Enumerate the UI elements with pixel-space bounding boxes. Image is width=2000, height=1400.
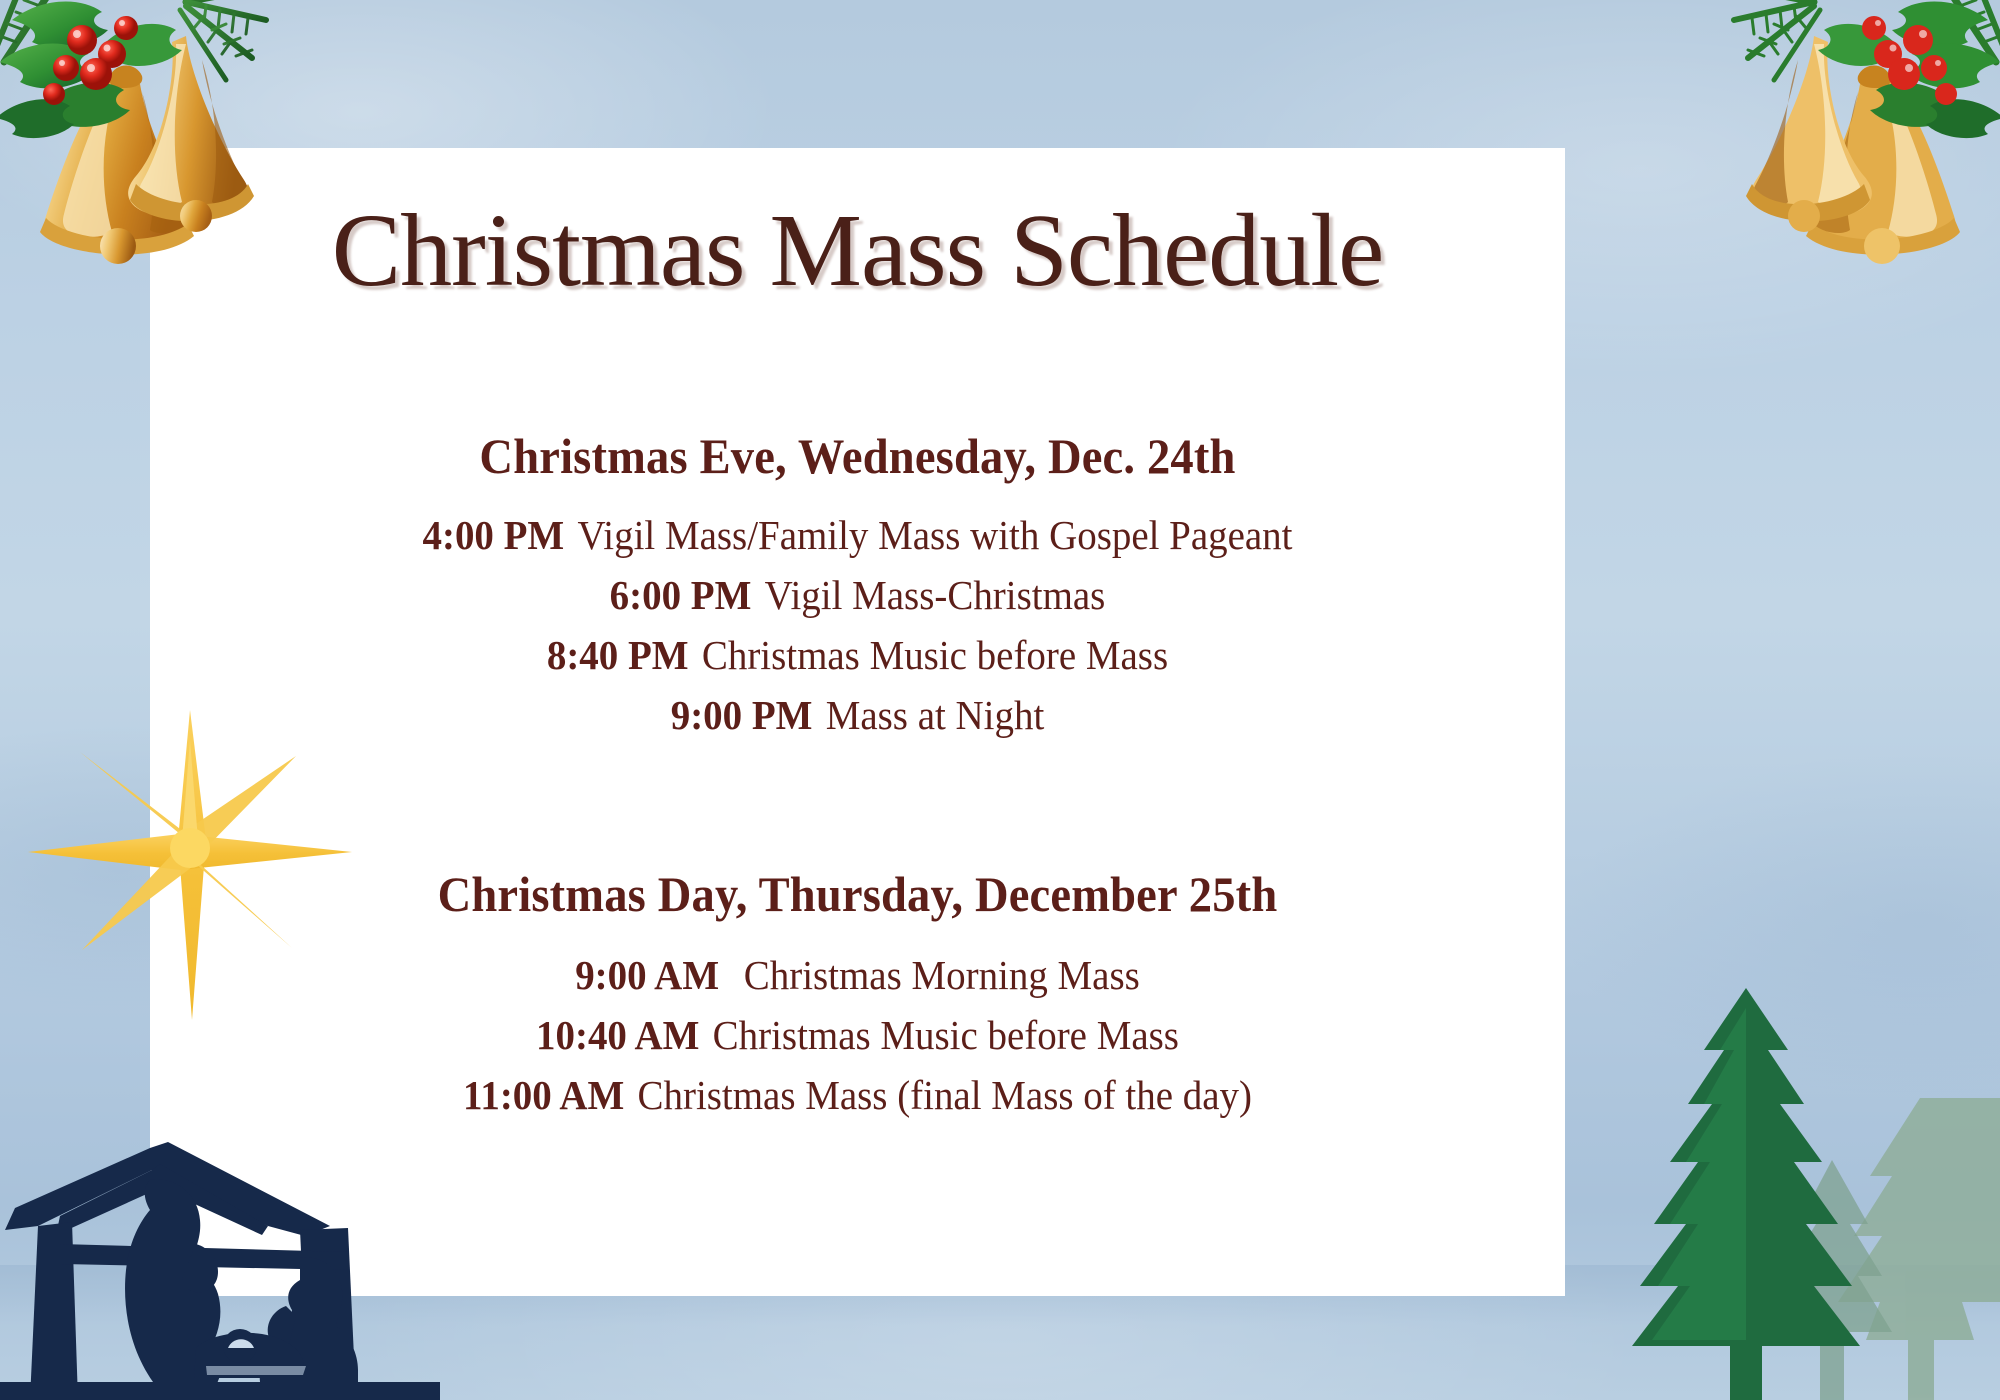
- schedule-row: 9:00 AMChristmas Morning Mass: [185, 945, 1529, 1005]
- mass-time: 9:00 AM: [575, 952, 719, 998]
- pine-trees-icon: [1570, 980, 2000, 1400]
- mass-description: Christmas Music before Mass: [702, 632, 1168, 678]
- mass-description: Vigil Mass-Christmas: [765, 572, 1106, 618]
- mass-description: Christmas Music before Mass: [713, 1012, 1179, 1058]
- section-heading-christmas-eve: Christmas Eve, Wednesday, Dec. 24th: [200, 427, 1516, 485]
- mass-time: 9:00 PM: [671, 692, 813, 738]
- schedule-row: 4:00 PMVigil Mass/Family Mass with Gospe…: [185, 505, 1529, 565]
- mass-description: Christmas Mass (final Mass of the day): [638, 1072, 1252, 1118]
- schedule-row: 6:00 PMVigil Mass-Christmas: [185, 565, 1529, 625]
- mass-time: 10:40 AM: [536, 1012, 699, 1058]
- christmas-bells-holly-icon-right: [1620, 0, 2000, 314]
- page-title: Christmas Mass Schedule: [150, 196, 1565, 305]
- christmas-mass-schedule-poster: Christmas Mass Schedule Christmas Eve, W…: [0, 0, 2000, 1400]
- mass-description: Mass at Night: [826, 692, 1045, 738]
- schedule-list-christmas-eve: 4:00 PMVigil Mass/Family Mass with Gospe…: [150, 505, 1565, 745]
- schedule-list-christmas-day: 9:00 AMChristmas Morning Mass 10:40 AMCh…: [150, 945, 1565, 1125]
- mass-time: 6:00 PM: [610, 572, 752, 618]
- mass-time: 11:00 AM: [463, 1072, 624, 1118]
- schedule-row: 9:00 PMMass at Night: [185, 685, 1529, 745]
- mass-description: Christmas Morning Mass: [744, 952, 1140, 998]
- schedule-row: 8:40 PMChristmas Music before Mass: [185, 625, 1529, 685]
- mass-time: 8:40 PM: [547, 632, 689, 678]
- schedule-row: 11:00 AMChristmas Mass (final Mass of th…: [185, 1065, 1529, 1125]
- section-heading-christmas-day: Christmas Day, Thursday, December 25th: [200, 865, 1516, 923]
- schedule-row: 10:40 AMChristmas Music before Mass: [185, 1005, 1529, 1065]
- mass-time: 4:00 PM: [423, 512, 565, 558]
- mass-description: Vigil Mass/Family Mass with Gospel Pagea…: [578, 512, 1293, 558]
